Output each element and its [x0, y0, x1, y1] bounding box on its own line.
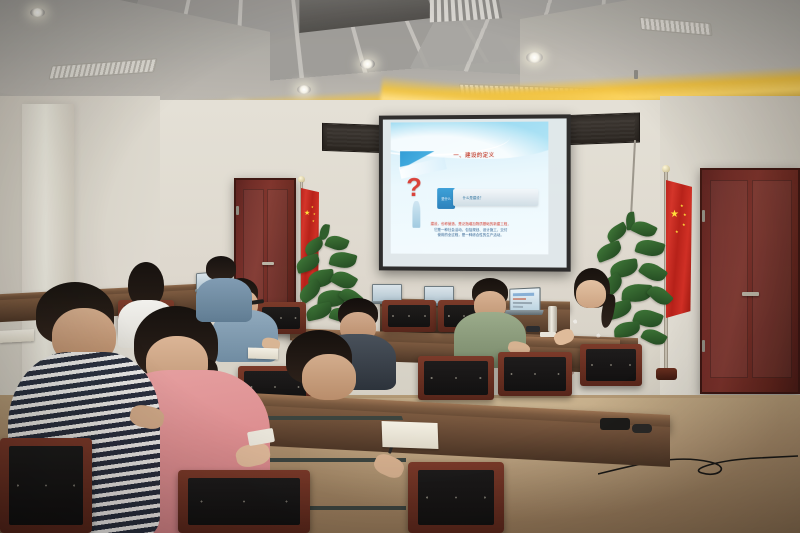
- door-panel: [752, 180, 792, 378]
- flag-star-small: ★: [311, 206, 314, 209]
- chair-front-left[interactable]: [0, 438, 92, 533]
- door-hinge: [236, 206, 239, 215]
- door-handle[interactable]: [262, 262, 274, 265]
- projection-screen: 一、建设的定义 ? 是什么 什么是建设？ 建设，也称营造，是泛指增加物质基础的新…: [379, 114, 571, 271]
- ceiling-downlight: [526, 52, 543, 63]
- notebook-back-left: [0, 329, 34, 343]
- slide-content: 一、建设的定义 ? 是什么 什么是建设？ 建设，也称营造，是泛指增加物质基础的新…: [391, 122, 549, 255]
- slide-box-text: 什么是建设？: [463, 195, 483, 200]
- right-wooden-door[interactable]: [700, 168, 800, 394]
- notebook-mid: [248, 347, 278, 359]
- ceiling-downlight: [30, 8, 45, 17]
- flag-star-small: ★: [682, 223, 686, 227]
- slide-tab-label: 是什么: [441, 196, 451, 201]
- ceiling-downlight: [297, 85, 311, 94]
- door-hinge: [702, 340, 705, 352]
- thermos-flask: [548, 306, 557, 332]
- ceiling-downlight: [360, 59, 375, 69]
- door-panel: [710, 180, 748, 378]
- slide-body-text: 建设，也称营造，是泛指增加物质基础的新建工程， 它是一种社会活动，包括规划、设计…: [413, 222, 530, 239]
- slide-tab: 是什么: [438, 188, 455, 209]
- chair-front-right[interactable]: [408, 462, 504, 533]
- slide-text-box: 什么是建设？: [453, 189, 539, 206]
- flag-star-small: ★: [313, 213, 316, 216]
- meeting-room-photo: 一、建设的定义 ? 是什么 什么是建设？ 建设，也称营造，是泛指增加物质基础的新…: [0, 0, 800, 533]
- equipment-under-desk: [632, 424, 652, 433]
- flag-star-small: ★: [683, 213, 687, 217]
- screen-surface: 一、建设的定义 ? 是什么 什么是建设？ 建设，也称营造，是泛指增加物质基础的新…: [383, 118, 567, 267]
- flag-star-large: ★: [304, 210, 310, 217]
- chair-mid[interactable]: [580, 344, 642, 386]
- chair-mid[interactable]: [418, 356, 494, 400]
- wall-speaker-left: [322, 123, 386, 153]
- slide-body-line-3: 使用的全过程，是一种综合性的生产活动。: [413, 233, 530, 239]
- notebook-front: [382, 421, 439, 449]
- attendee-teal: [196, 256, 254, 318]
- equipment-under-desk: [600, 418, 630, 430]
- flag-star-small: ★: [312, 220, 315, 223]
- chair-front-center[interactable]: [178, 470, 310, 533]
- chair-mid[interactable]: [498, 352, 572, 396]
- phone-on-desk: [526, 326, 540, 332]
- door-hinge: [702, 210, 705, 222]
- flag-star-small: ★: [680, 204, 684, 208]
- slide-title: 一、建设的定义: [453, 151, 494, 159]
- sprinkler-head: [634, 70, 638, 79]
- phone: [247, 428, 275, 446]
- door-handle[interactable]: [742, 292, 759, 296]
